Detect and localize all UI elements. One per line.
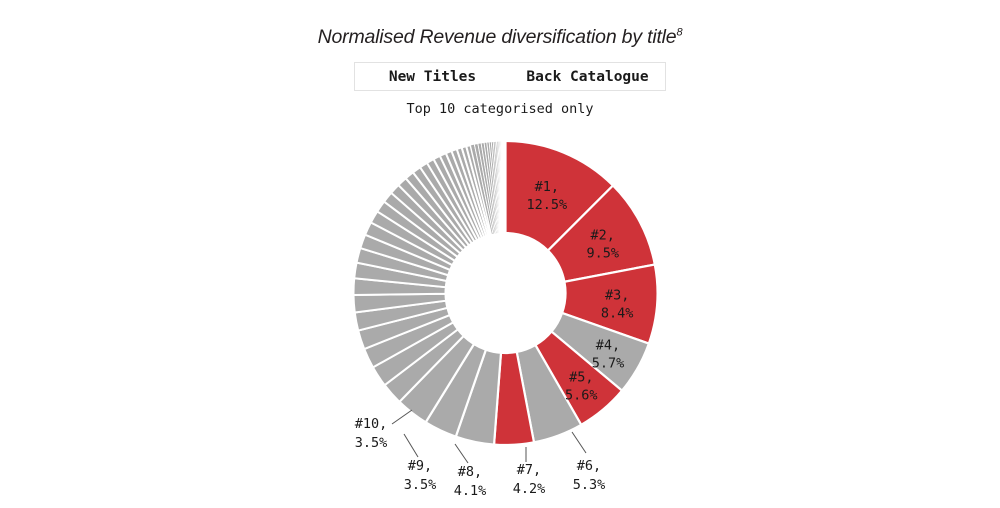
slice-label-text: 4.2% [513, 481, 546, 497]
leader-line [392, 410, 412, 424]
slice-label-text: #8, [458, 464, 482, 480]
slice-label-text: #10, [355, 416, 388, 432]
slice-label-text: #5, [569, 369, 593, 385]
slice-label-text: 5.6% [565, 387, 598, 403]
slice-label-text: #1, [535, 179, 559, 195]
slice-label-text: 9.5% [586, 246, 619, 262]
slice-label-text: 4.1% [454, 483, 487, 499]
leader-line [455, 444, 468, 463]
slice-label-text: #6, [577, 458, 601, 474]
slice-label-text: #9, [408, 458, 432, 474]
slice-label-text: #4, [596, 337, 620, 353]
chart-container: Normalised Revenue diversification by ti… [0, 0, 1000, 508]
slice-label-text: 8.4% [601, 305, 634, 321]
slice-label-text: #7, [517, 462, 541, 478]
slice-label-text: 5.3% [573, 477, 606, 493]
slice-label-text: 12.5% [527, 197, 568, 213]
slice-label-text: 3.5% [404, 477, 437, 493]
slice-label-text: 5.7% [592, 355, 625, 371]
donut-slice-unlabelled[interactable] [505, 141, 506, 233]
donut-chart: #1,12.5%#2,9.5%#3,8.4%#4,5.7%#5,5.6%#6,5… [0, 0, 1000, 508]
slice-label-text: 3.5% [355, 435, 388, 451]
leader-line [572, 432, 586, 453]
leader-line [404, 434, 418, 457]
slice-label-text: #3, [605, 287, 629, 303]
slice-label-text: #2, [591, 228, 615, 244]
